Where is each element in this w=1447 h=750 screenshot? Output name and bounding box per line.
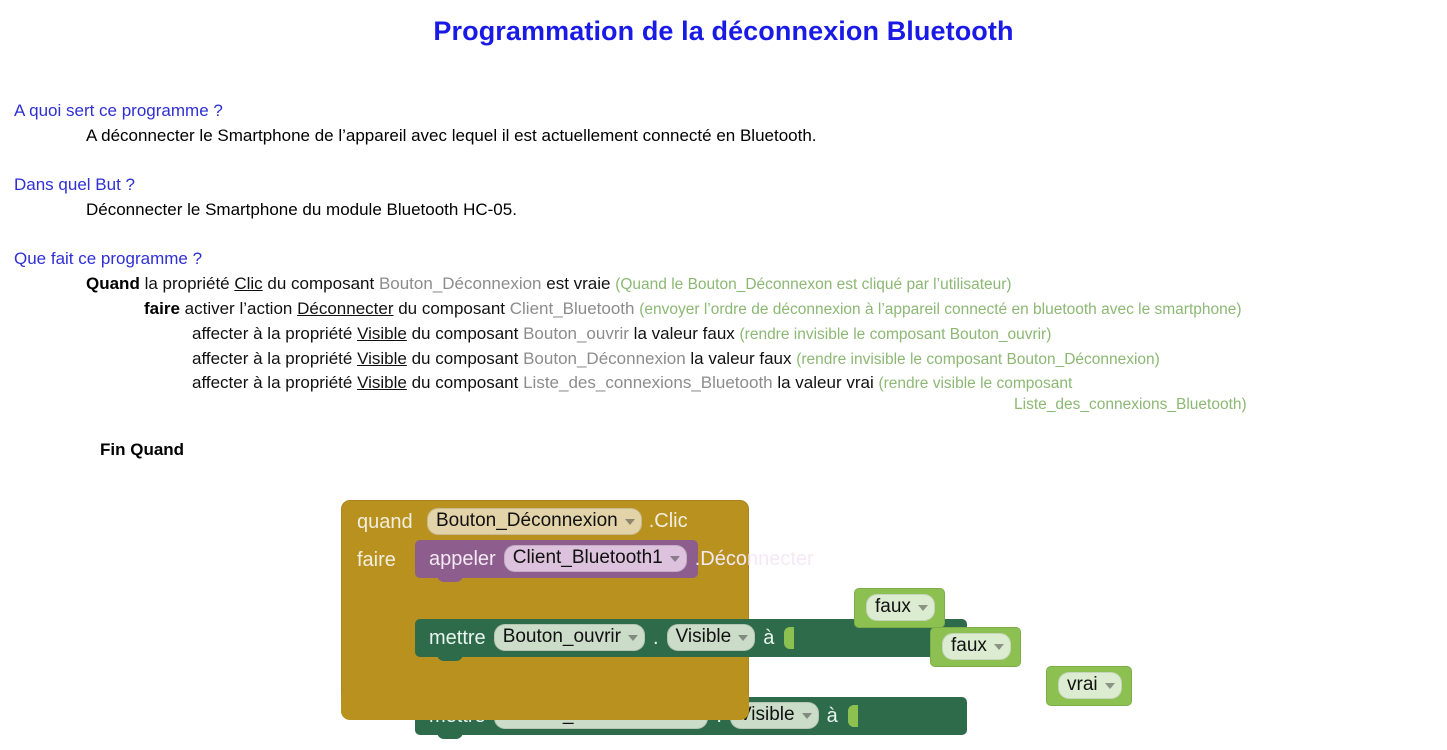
component-name: Bouton_ouvrir	[523, 324, 629, 343]
set-component-label: Bouton_ouvrir	[503, 626, 621, 648]
component-name: Liste_des_connexions_Bluetooth	[523, 373, 773, 392]
text-fragment: du composant	[407, 373, 523, 392]
component-name: Bouton_Déconnexion	[379, 274, 542, 293]
block-notch	[437, 653, 463, 661]
text-fragment: du composant	[393, 299, 509, 318]
inline-note: (envoyer l’ordre de déconnexion à l’appa…	[639, 301, 1241, 318]
value-socket	[784, 627, 794, 649]
text-fragment: la valeur faux	[686, 349, 797, 368]
action-deconnecter: Déconnecter	[297, 299, 393, 318]
inline-note: (rendre invisible le composant Bouton_ou…	[740, 326, 1052, 343]
set-to-label: à	[827, 704, 838, 728]
page-root: Programmation de la déconnexion Bluetoot…	[0, 0, 1447, 750]
set-block-keyword: mettre	[429, 626, 486, 650]
event-block-footer	[341, 695, 749, 720]
property-visible: Visible	[357, 373, 407, 392]
keyword-faire: faire	[144, 299, 180, 318]
spacer	[14, 222, 1434, 248]
inline-note: (Quand le Bouton_Déconnexon est cliqué p…	[615, 276, 1011, 293]
block-notch	[437, 731, 463, 739]
text-fragment: la propriété	[140, 274, 235, 293]
text-fragment: du composant	[407, 324, 523, 343]
text-fragment: la valeur vrai	[773, 373, 879, 392]
section-heading-1: A quoi sert ce programme ?	[14, 100, 1434, 122]
pseudocode-line-affecter-3: affecter à la propriété Visible du compo…	[192, 372, 1434, 416]
keyword-quand: Quand	[86, 274, 140, 293]
page-title: Programmation de la déconnexion Bluetoot…	[0, 16, 1447, 47]
property-visible: Visible	[357, 324, 407, 343]
component-name: Bouton_Déconnexion	[523, 349, 686, 368]
call-block-deconnecter[interactable]: appeler Client_Bluetooth1 .Déconnecter	[415, 540, 698, 578]
set-property-dropdown[interactable]: Visible	[667, 624, 756, 651]
value-label-1: faux	[875, 596, 911, 618]
event-block-header: Bouton_Déconnexion .Clic	[427, 508, 688, 535]
text-fragment: la valeur faux	[629, 324, 740, 343]
component-name: Client_Bluetooth	[510, 299, 635, 318]
value-dropdown-3[interactable]: vrai	[1058, 672, 1122, 699]
chevron-down-icon[interactable]	[670, 556, 680, 562]
text-fragment: du composant	[263, 274, 379, 293]
property-clic: Clic	[234, 274, 262, 293]
text-fragment: affecter à la propriété	[192, 324, 357, 343]
value-block-row-1[interactable]: faux	[854, 588, 945, 628]
text-fragment: est vraie	[542, 274, 616, 293]
blocks-diagram: quand faire Bouton_Déconnexion .Clic app…	[341, 500, 749, 716]
event-suffix-label: .Clic	[649, 510, 688, 533]
event-component-label: Bouton_Déconnexion	[436, 510, 618, 532]
set-separator: .	[653, 626, 659, 650]
chevron-down-icon[interactable]	[802, 713, 812, 719]
pseudocode-line-affecter-2: affecter à la propriété Visible du compo…	[192, 347, 1434, 372]
value-socket	[848, 705, 858, 727]
pseudocode-line-quand: Quand la propriété Clic du composant Bou…	[86, 272, 1434, 297]
chevron-down-icon[interactable]	[1105, 683, 1115, 689]
chevron-down-icon[interactable]	[625, 519, 635, 525]
text-fragment: affecter à la propriété	[192, 349, 357, 368]
inline-note: (rendre invisible le composant Bouton_Dé…	[796, 351, 1160, 368]
event-block-do-label: faire	[357, 550, 396, 570]
event-component-dropdown[interactable]: Bouton_Déconnexion	[427, 508, 642, 535]
event-block-keyword: quand	[357, 512, 413, 532]
call-component-dropdown[interactable]: Client_Bluetooth1	[504, 545, 687, 572]
chevron-down-icon[interactable]	[994, 644, 1004, 650]
chevron-down-icon[interactable]	[738, 635, 748, 641]
value-block-row-2[interactable]: faux	[930, 627, 1021, 667]
value-label-2: faux	[951, 635, 987, 657]
section-answer-1: A déconnecter le Smartphone de l’apparei…	[86, 124, 1434, 148]
call-component-label: Client_Bluetooth1	[513, 547, 663, 569]
event-block-quand[interactable]: quand faire Bouton_Déconnexion .Clic app…	[341, 500, 749, 716]
text-fragment: affecter à la propriété	[192, 373, 357, 392]
property-visible: Visible	[357, 349, 407, 368]
value-dropdown-2[interactable]: faux	[942, 633, 1011, 660]
pseudocode-line-faire: faire activer l’action Déconnecter du co…	[144, 297, 1434, 322]
pseudocode-line-affecter-1: affecter à la propriété Visible du compo…	[192, 322, 1434, 347]
section-answer-2: Déconnecter le Smartphone du module Blue…	[86, 198, 1434, 222]
set-to-label: à	[763, 626, 774, 650]
chevron-down-icon[interactable]	[918, 605, 928, 611]
section-heading-2: Dans quel But ?	[14, 174, 1434, 196]
value-dropdown-1[interactable]: faux	[866, 594, 935, 621]
inline-note-continuation: Liste_des_connexions_Bluetooth)	[1014, 394, 1434, 416]
call-method-label: .Déconnecter	[695, 547, 814, 571]
call-block-keyword: appeler	[429, 547, 496, 571]
set-property-label: Visible	[676, 626, 732, 648]
pseudocode-line-fin: Fin Quand	[100, 438, 1434, 462]
value-label-3: vrai	[1067, 674, 1098, 696]
block-notch	[437, 574, 463, 582]
value-block-row-3[interactable]: vrai	[1046, 666, 1132, 706]
section-heading-3: Que fait ce programme ?	[14, 248, 1434, 270]
document-body: A quoi sert ce programme ? A déconnecter…	[14, 100, 1434, 462]
inline-note: (rendre visible le composant	[878, 375, 1072, 392]
set-component-dropdown[interactable]: Bouton_ouvrir	[494, 624, 645, 651]
text-fragment: activer l’action	[180, 299, 297, 318]
text-fragment: du composant	[407, 349, 523, 368]
spacer	[14, 148, 1434, 174]
chevron-down-icon[interactable]	[628, 635, 638, 641]
